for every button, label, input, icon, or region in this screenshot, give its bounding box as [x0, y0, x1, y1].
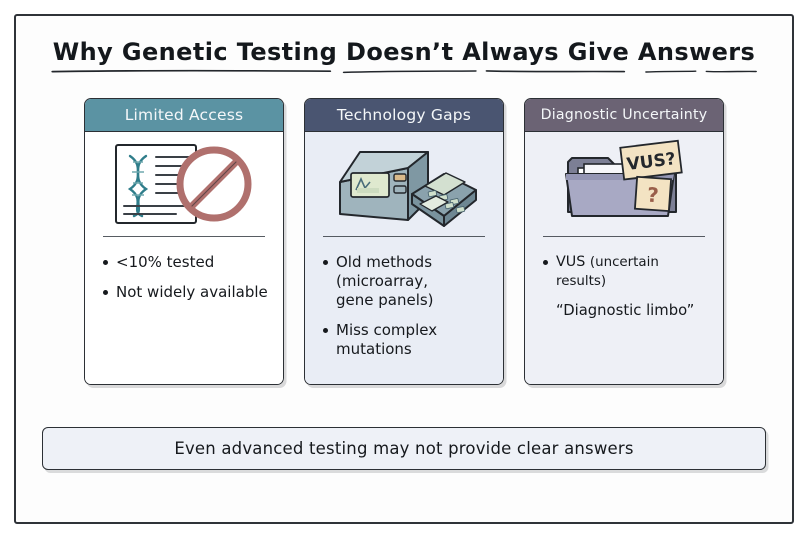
bullet-text: Old methods (microarray, gene panels)	[336, 253, 489, 310]
bullet-list-limited-access: <10% tested Not widely available	[85, 237, 283, 313]
card-limited-access[interactable]: Limited Access	[84, 98, 284, 385]
bullet-list-diagnostic-uncertainty: VUS (uncertain results) “Diagnostic limb…	[525, 237, 723, 330]
bullet-text: Not widely available	[116, 283, 269, 302]
card-header-limited-access: Limited Access	[85, 99, 283, 132]
card-body-limited-access: <10% tested Not widely available	[85, 132, 283, 384]
page-title: Why Genetic Testing Doesn’t Always Give …	[47, 38, 761, 75]
folder-with-sticky-notes-icon: VUS? ?	[544, 138, 704, 230]
footer-banner: Even advanced testing may not provide cl…	[42, 427, 766, 470]
list-item: Old methods (microarray, gene panels)	[321, 253, 489, 310]
list-item: Miss complex mutations	[321, 321, 489, 359]
bullet-line: Miss complex	[336, 321, 437, 339]
bullet-dot-icon	[323, 328, 328, 333]
card-diagnostic-uncertainty[interactable]: Diagnostic Uncertainty	[524, 98, 724, 385]
title-container: Why Genetic Testing Doesn’t Always Give …	[16, 38, 792, 75]
card-divider	[103, 236, 265, 237]
list-item: Not widely available	[101, 283, 269, 302]
bullet-dot-icon	[103, 290, 108, 295]
poster-frame: Why Genetic Testing Doesn’t Always Give …	[14, 14, 794, 524]
bullet-text: Miss complex mutations	[336, 321, 489, 359]
card-header-technology-gaps: Technology Gaps	[305, 99, 503, 132]
card-technology-gaps[interactable]: Technology Gaps	[304, 98, 504, 385]
bullet-list-technology-gaps: Old methods (microarray, gene panels) Mi…	[305, 237, 503, 369]
illustration-technology-gaps	[305, 132, 503, 236]
svg-text:?: ?	[646, 183, 659, 208]
card-body-diagnostic-uncertainty: VUS? ? VUS (uncertain results)	[525, 132, 723, 384]
card-row: Limited Access	[16, 98, 792, 385]
bullet-text: VUS (uncertain results)	[556, 253, 709, 291]
bullet-dot-icon	[543, 260, 548, 265]
page-title-text: Why Genetic Testing Doesn’t Always Give …	[53, 38, 755, 66]
dna-document-prohibited-icon	[104, 138, 264, 230]
title-underline-sketch	[47, 68, 761, 75]
card-divider	[323, 236, 485, 237]
bullet-dot-icon	[323, 260, 328, 265]
card-divider	[543, 236, 705, 237]
bullet-line: Old methods	[336, 253, 432, 271]
list-item: <10% tested	[101, 253, 269, 272]
lab-sequencer-machine-icon	[324, 138, 484, 230]
bullet-text: <10% tested	[116, 253, 269, 272]
illustration-limited-access	[85, 132, 283, 236]
bullet-line: mutations	[336, 340, 412, 358]
bullet-line: gene panels)	[336, 291, 434, 309]
bullet-line: (microarray,	[336, 272, 428, 290]
bullet-dot-icon	[103, 260, 108, 265]
footer-text: Even advanced testing may not provide cl…	[174, 439, 633, 458]
bullet-label: VUS	[556, 254, 590, 270]
card-header-diagnostic-uncertainty: Diagnostic Uncertainty	[525, 99, 723, 132]
card-body-technology-gaps: Old methods (microarray, gene panels) Mi…	[305, 132, 503, 384]
illustration-diagnostic-uncertainty: VUS? ?	[525, 132, 723, 236]
list-item: VUS (uncertain results)	[541, 253, 709, 291]
quoted-phrase: “Diagnostic limbo”	[556, 302, 709, 321]
